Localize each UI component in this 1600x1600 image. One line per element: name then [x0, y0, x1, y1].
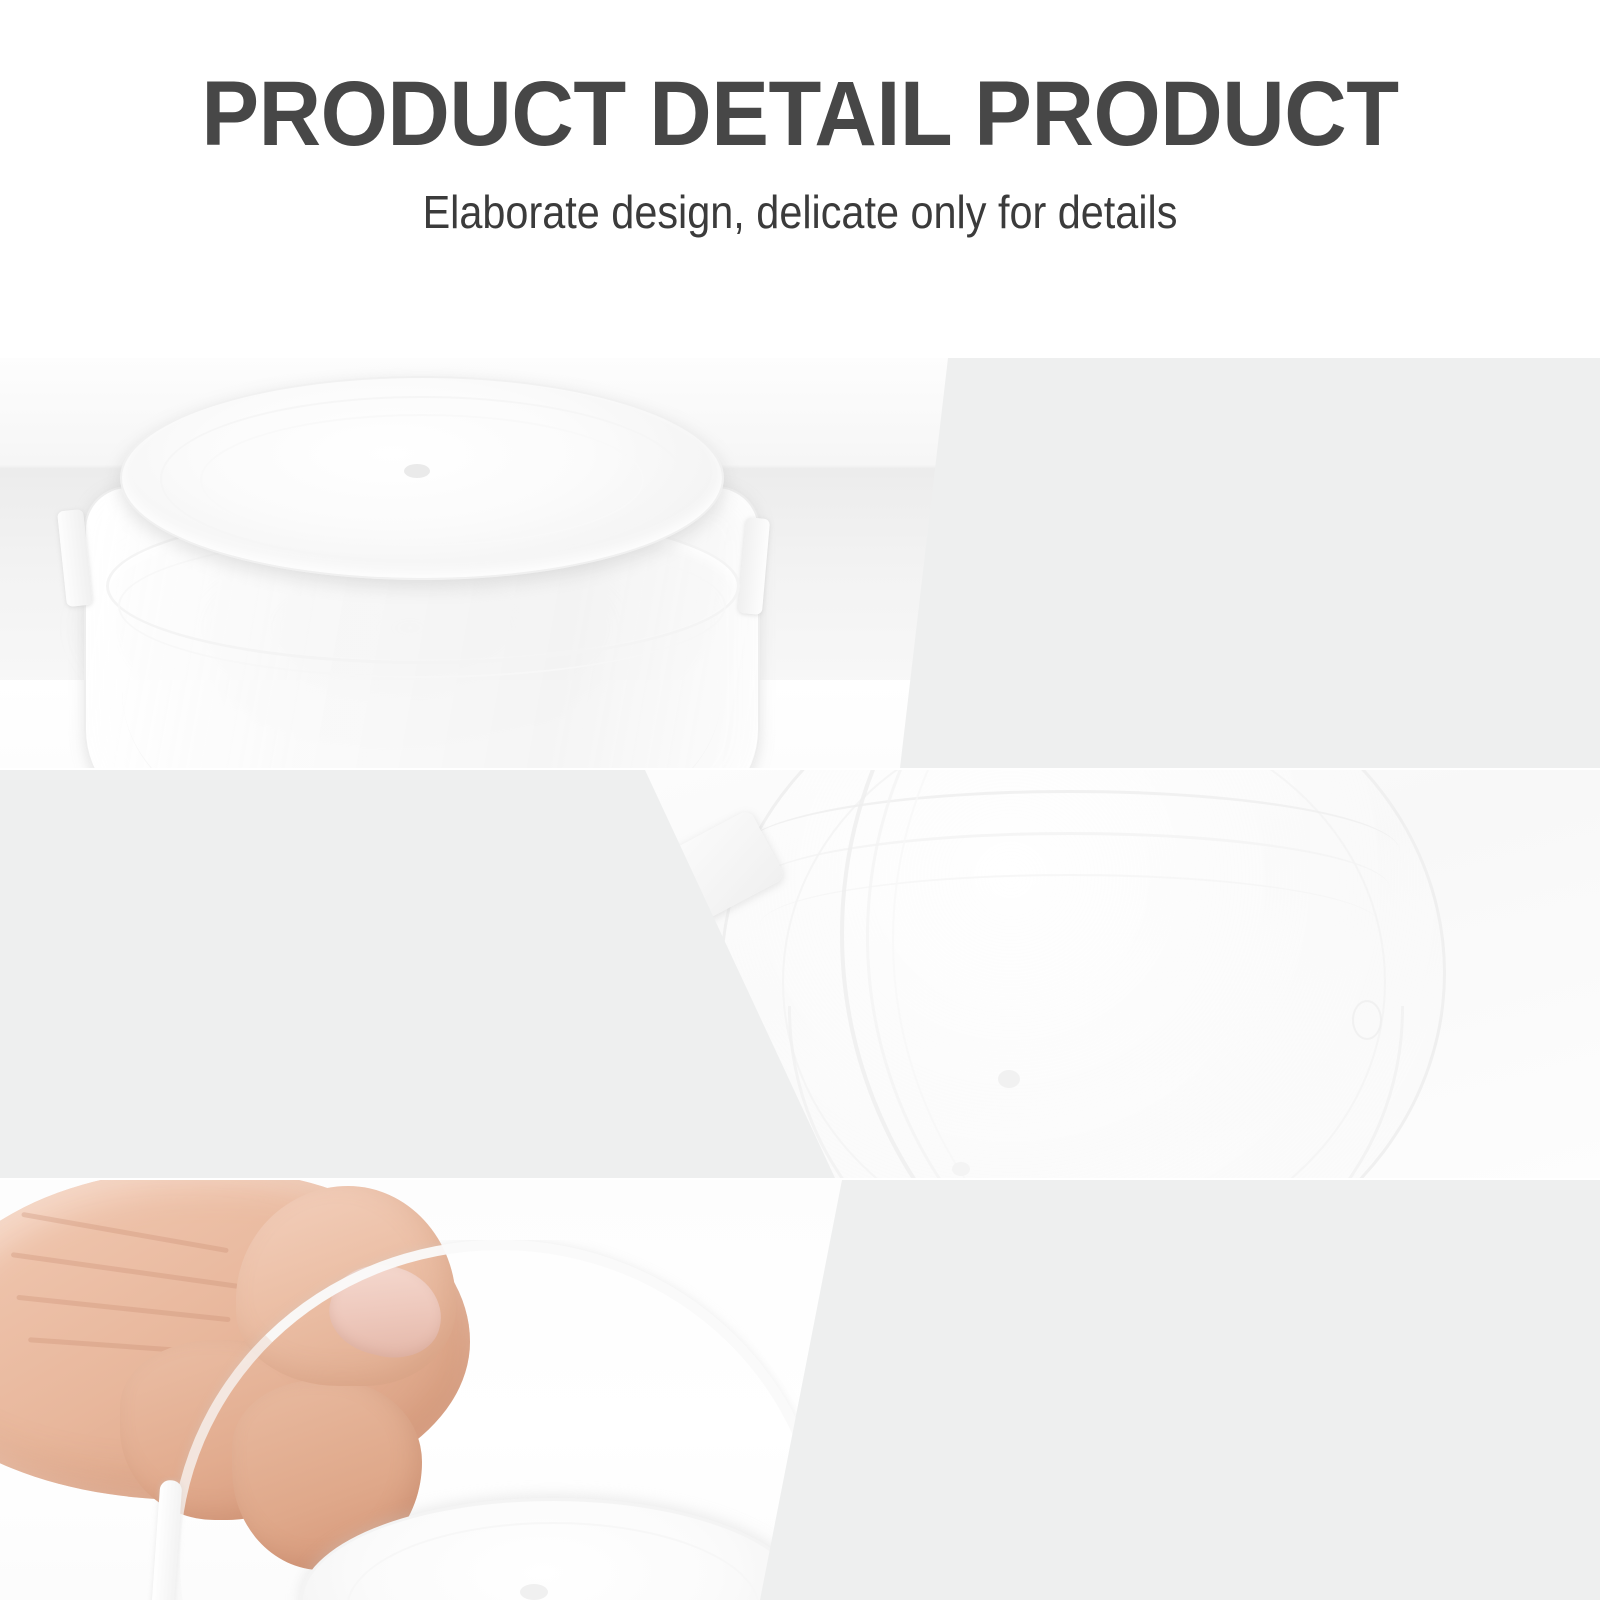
feature-photo-1 [0, 358, 1010, 768]
mold-mark-2 [952, 1162, 970, 1176]
lid-center-nub [520, 1584, 548, 1600]
header: PRODUCT DETAIL PRODUCT Elaborate design,… [0, 0, 1600, 358]
feature-panel-3 [760, 1180, 1600, 1600]
feature-row-1: 1 COVER TIGHTLY [0, 358, 1600, 768]
feature-row-2: 2 TRANSPARENT BARREL BODY [0, 770, 1600, 1178]
feature-panel-1 [900, 358, 1600, 768]
lid-ring-inner [200, 414, 644, 546]
page-subtitle: Elaborate design, delicate only for deta… [80, 186, 1520, 238]
lid-rim-arc-3 [892, 770, 1600, 1178]
lid-center-nub [404, 464, 430, 478]
mold-mark-3 [1352, 1000, 1382, 1040]
page-title: PRODUCT DETAIL PRODUCT [48, 68, 1552, 160]
product-detail-infographic: PRODUCT DETAIL PRODUCT Elaborate design,… [0, 0, 1600, 1600]
bucket-seam [122, 608, 722, 768]
mold-mark-1 [998, 1070, 1020, 1088]
feature-row-3: 3 HAND-HELD DESIGN [0, 1180, 1600, 1600]
